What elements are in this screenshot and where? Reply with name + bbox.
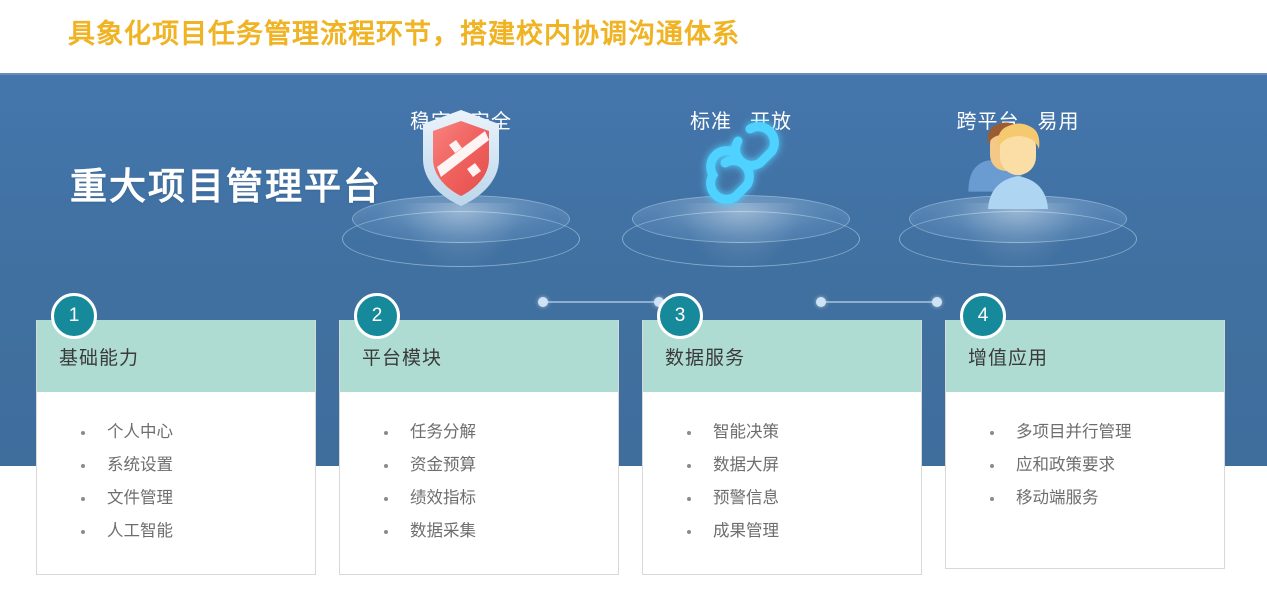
list-item[interactable]: 数据采集 (340, 515, 618, 548)
card-body: 多项目并行管理 应和政策要求 移动端服务 (946, 392, 1224, 568)
list-item[interactable]: 应和政策要求 (946, 449, 1224, 482)
list-item[interactable]: 预警信息 (643, 482, 921, 515)
card-number-badge: 3 (657, 293, 703, 339)
list-item[interactable]: 移动端服务 (946, 482, 1224, 515)
card-item-list: 个人中心 系统设置 文件管理 人工智能 (37, 416, 315, 548)
card-body: 任务分解 资金预算 绩效指标 数据采集 (340, 392, 618, 574)
list-item[interactable]: 个人中心 (37, 416, 315, 449)
card-number-badge: 4 (960, 293, 1006, 339)
card-body: 个人中心 系统设置 文件管理 人工智能 (37, 392, 315, 574)
card-title: 数据服务 (665, 343, 745, 370)
list-item[interactable]: 资金预算 (340, 449, 618, 482)
card-basic-capability[interactable]: 1 基础能力 个人中心 系统设置 文件管理 人工智能 (36, 320, 316, 575)
list-item[interactable]: 绩效指标 (340, 482, 618, 515)
card-value-added-application[interactable]: 4 增值应用 多项目并行管理 应和政策要求 移动端服务 (945, 320, 1225, 569)
card-title: 基础能力 (59, 343, 139, 370)
list-item[interactable]: 数据大屏 (643, 449, 921, 482)
card-title: 平台模块 (362, 343, 442, 370)
card-item-list: 多项目并行管理 应和政策要求 移动端服务 (946, 416, 1224, 515)
card-item-list: 智能决策 数据大屏 预警信息 成果管理 (643, 416, 921, 548)
list-item[interactable]: 文件管理 (37, 482, 315, 515)
list-item[interactable]: 人工智能 (37, 515, 315, 548)
card-platform-module[interactable]: 2 平台模块 任务分解 资金预算 绩效指标 数据采集 (339, 320, 619, 575)
slide-root: 具象化项目任务管理流程环节，搭建校内协调沟通体系 重大项目管理平台 稳定安全 (0, 0, 1267, 611)
list-item[interactable]: 任务分解 (340, 416, 618, 449)
card-item-list: 任务分解 资金预算 绩效指标 数据采集 (340, 416, 618, 548)
card-number-badge: 1 (51, 293, 97, 339)
card-body: 智能决策 数据大屏 预警信息 成果管理 (643, 392, 921, 574)
list-item[interactable]: 成果管理 (643, 515, 921, 548)
card-title: 增值应用 (968, 343, 1048, 370)
capability-cards: 1 基础能力 个人中心 系统设置 文件管理 人工智能 2 平台模块 任务分解 (0, 0, 1267, 611)
list-item[interactable]: 智能决策 (643, 416, 921, 449)
list-item[interactable]: 多项目并行管理 (946, 416, 1224, 449)
card-data-service[interactable]: 3 数据服务 智能决策 数据大屏 预警信息 成果管理 (642, 320, 922, 575)
list-item[interactable]: 系统设置 (37, 449, 315, 482)
card-number-badge: 2 (354, 293, 400, 339)
